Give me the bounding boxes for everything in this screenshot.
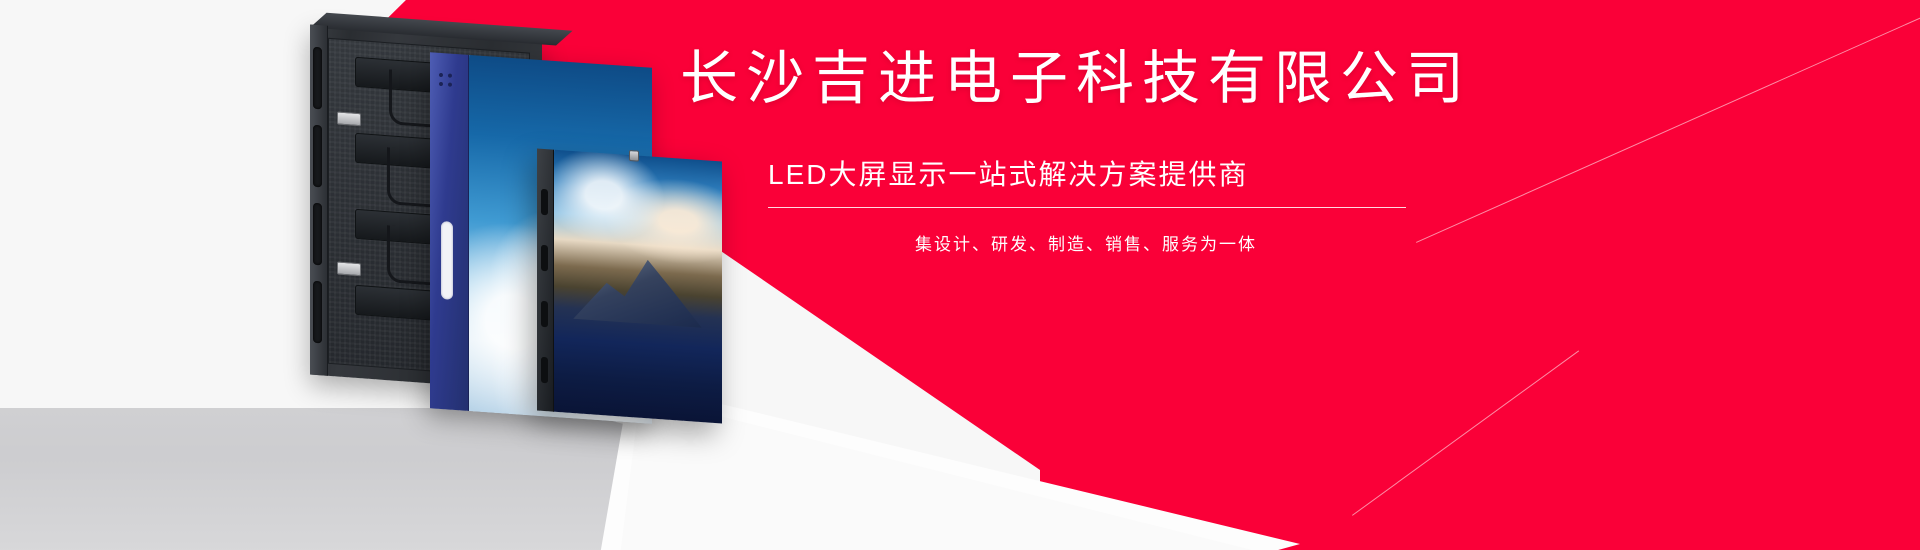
- banner-subtitle: LED大屏显示一站式解决方案提供商: [768, 153, 1680, 207]
- cabinet-connector: [337, 261, 361, 276]
- divider-rule: [768, 207, 1406, 208]
- frame-screw-dots: [439, 73, 457, 92]
- cabinet-vent-slot: [313, 203, 322, 266]
- blue-side-frame: [430, 52, 469, 411]
- hero-banner: 长沙吉进电子科技有限公司 LED大屏显示一站式解决方案提供商 集设计、研发、制造…: [0, 0, 1920, 550]
- banner-copy: 长沙吉进电子科技有限公司 LED大屏显示一站式解决方案提供商 集设计、研发、制造…: [680, 48, 1680, 255]
- company-title: 长沙吉进电子科技有限公司: [680, 48, 1680, 109]
- cabinet-connector: [337, 111, 361, 126]
- panel-handle: [441, 221, 453, 300]
- panel-front-side-edge: [537, 149, 554, 412]
- panel-top-sensor-icon: [629, 150, 639, 162]
- subtitle-block: LED大屏显示一站式解决方案提供商: [680, 153, 1680, 208]
- banner-tagline: 集设计、研发、制造、销售、服务为一体: [680, 230, 1404, 255]
- cabinet-left-rail: [310, 24, 328, 375]
- cabinet-vent-slot: [313, 281, 322, 344]
- cabinet-vent-slot: [313, 47, 322, 110]
- cabinet-vent-slot: [313, 125, 322, 188]
- led-product-group: [310, 33, 730, 428]
- diagonal-accent-line-bottom: [1352, 350, 1579, 515]
